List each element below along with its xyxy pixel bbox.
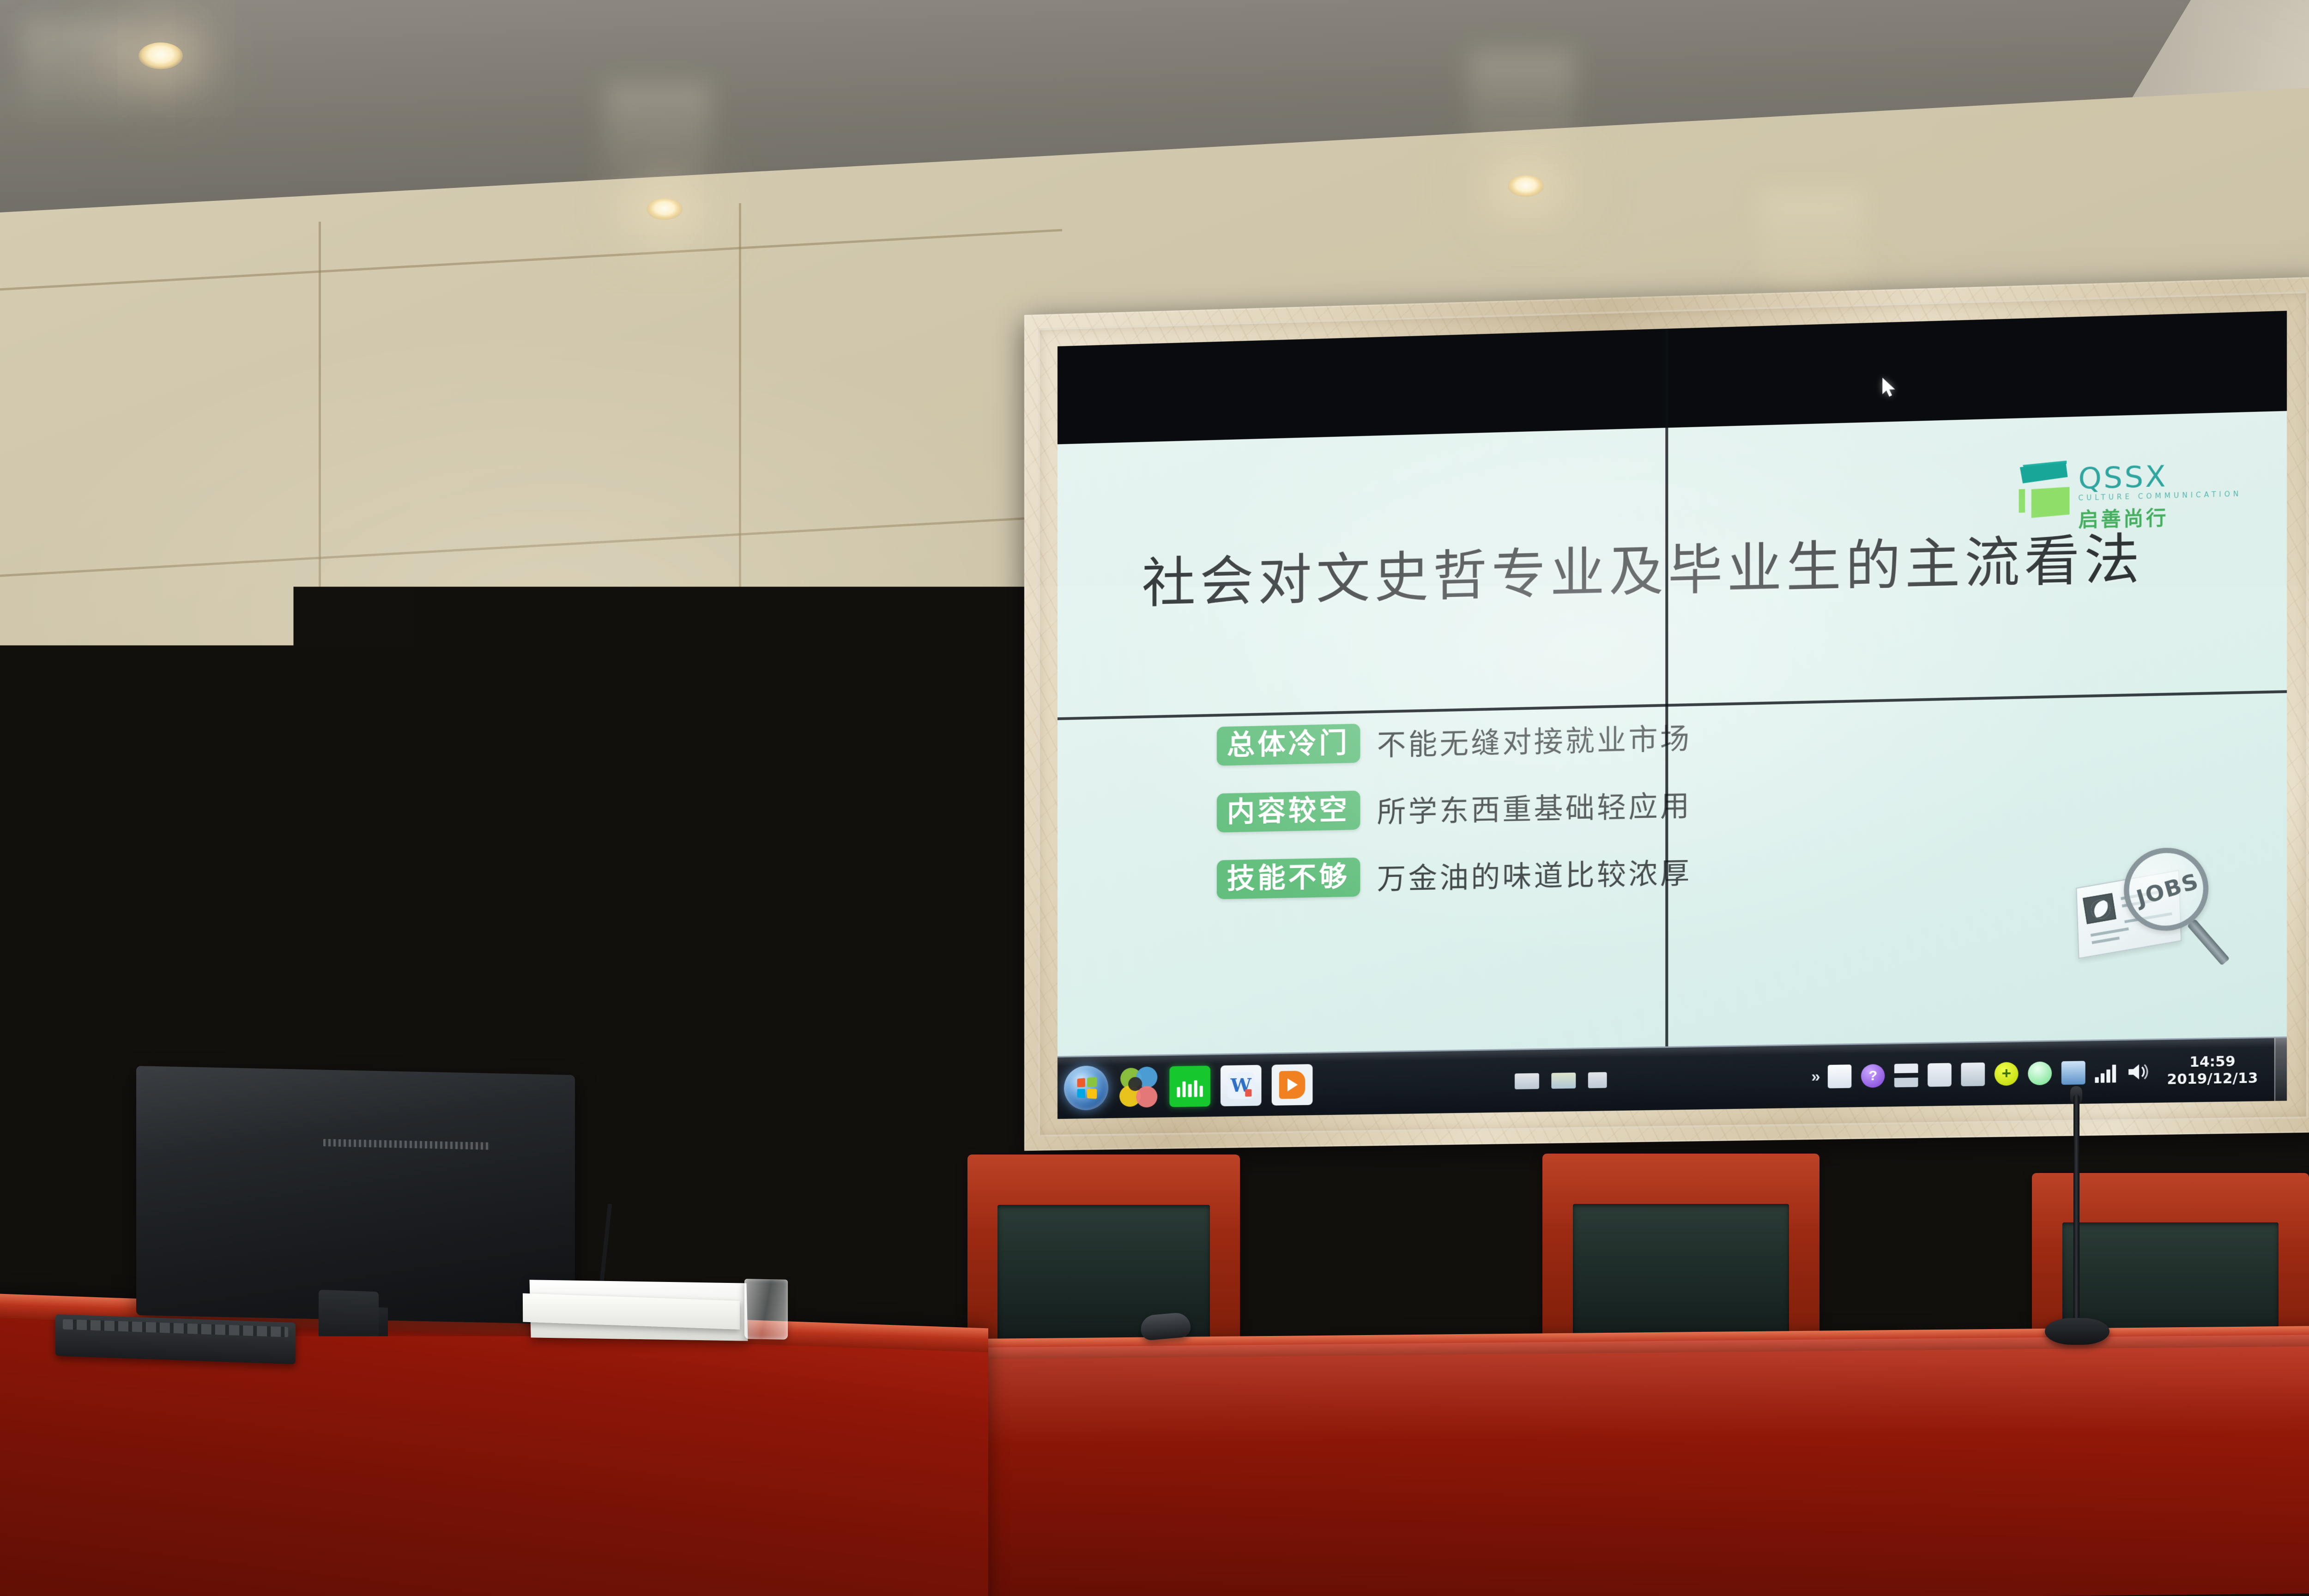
conference-room-scene: 社会对文史哲专业及毕业生的主流看法 总体冷门 不能无缝对接就业市场 内容较空 所… [0,0,2309,1596]
bullet-badge: 技能不够 [1217,858,1360,899]
window-button-1[interactable] [1515,1073,1539,1089]
taskbar-petals-icon[interactable] [1118,1066,1159,1108]
taskbar-iqiyi-icon[interactable] [1169,1065,1210,1107]
clock-time: 14:59 [2167,1053,2258,1071]
system-tray[interactable]: » ? + [1811,1053,2273,1093]
water-glass [744,1279,788,1340]
slide-bullet-row: 内容较空 所学东西重基础轻应用 [1217,773,2127,834]
ceiling-light [139,42,183,69]
logo-latin-name: QSSX [2078,460,2242,491]
stack-tray-icon[interactable] [1894,1063,1918,1087]
desk-cup [319,1290,379,1348]
volume-icon[interactable] [2127,1061,2150,1082]
jobs-magnifier-illustration: JOBS [2064,834,2228,994]
show-desktop-button[interactable] [2274,1038,2287,1101]
taskbar-media-player-icon[interactable] [1272,1064,1313,1106]
slide-bullet-row: 技能不够 万金油的味道比较浓厚 [1217,841,2127,901]
usb-tray-icon[interactable] [1961,1062,1985,1086]
audience-member [1191,1106,1801,1596]
clock-date: 2019/12/13 [2167,1070,2258,1088]
globe-icon [2083,893,2116,924]
home-tray-icon[interactable] [1928,1063,1952,1087]
start-button[interactable] [1064,1065,1108,1111]
audience-hair [1302,1106,1709,1522]
slide-title: 社会对文史哲专业及毕业生的主流看法 [1142,515,2124,618]
ceiling-light [647,199,683,220]
help-tray-icon[interactable]: ? [1861,1064,1885,1088]
slide-bullet-row: 总体冷门 不能无缝对接就业市场 [1217,705,2127,767]
tray-overflow-chevron-icon[interactable]: » [1811,1067,1817,1086]
window-button-2[interactable] [1551,1072,1576,1088]
display-panel-area[interactable]: 社会对文史哲专业及毕业生的主流看法 总体冷门 不能无缝对接就业市场 内容较空 所… [1058,311,2287,1119]
presenter-glasses [355,948,507,992]
logo-text-block: QSSX CULTURE COMMUNICATION 启善尚行 [2078,456,2242,532]
blue-tray-icon[interactable] [2061,1061,2085,1085]
presenter-monitor [136,1066,575,1324]
bullet-text: 不能无缝对接就业市场 [1377,715,1692,764]
slide-bullet-list: 总体冷门 不能无缝对接就业市场 内容较空 所学东西重基础轻应用 技能不够 万金油… [1217,705,2127,925]
network-signal-icon[interactable] [2095,1062,2117,1083]
open-book-logo-mark-icon [2016,460,2072,520]
taskbar-window-buttons[interactable] [1312,1069,1811,1092]
ceiling-light [1508,175,1544,197]
bullet-text: 万金油的味道比较浓厚 [1377,850,1692,898]
wall-seam [739,203,741,1321]
windows-logo-icon [1077,1076,1097,1099]
slide-logo: QSSX CULTURE COMMUNICATION 启善尚行 [2016,456,2242,534]
microphone-base [2045,1318,2110,1345]
shield-tray-icon[interactable] [2028,1061,2052,1085]
microphone [2073,1094,2079,1335]
video-wall-seam-vertical [1665,329,1668,1110]
document-tray-icon[interactable] [1828,1064,1851,1088]
taskbar-wps-writer-icon[interactable]: W [1221,1064,1262,1106]
bullet-badge: 总体冷门 [1217,724,1360,766]
plus-tray-icon[interactable]: + [1995,1062,2019,1086]
bullet-text: 所学东西重基础轻应用 [1377,782,1692,831]
presentation-slide[interactable]: 社会对文史哲专业及毕业生的主流看法 总体冷门 不能无缝对接就业市场 内容较空 所… [1058,411,2287,1056]
taskbar-clock[interactable]: 14:59 2019/12/13 [2159,1053,2270,1088]
window-button-3[interactable] [1588,1072,1607,1088]
bullet-badge: 内容较空 [1217,791,1360,833]
logo-chinese-name: 启善尚行 [2078,500,2242,532]
keyboard[interactable] [55,1314,296,1364]
video-wall: 社会对文史哲专业及毕业生的主流看法 总体冷门 不能无缝对接就业市场 内容较空 所… [1024,277,2309,1151]
papers-on-desk [530,1280,748,1341]
